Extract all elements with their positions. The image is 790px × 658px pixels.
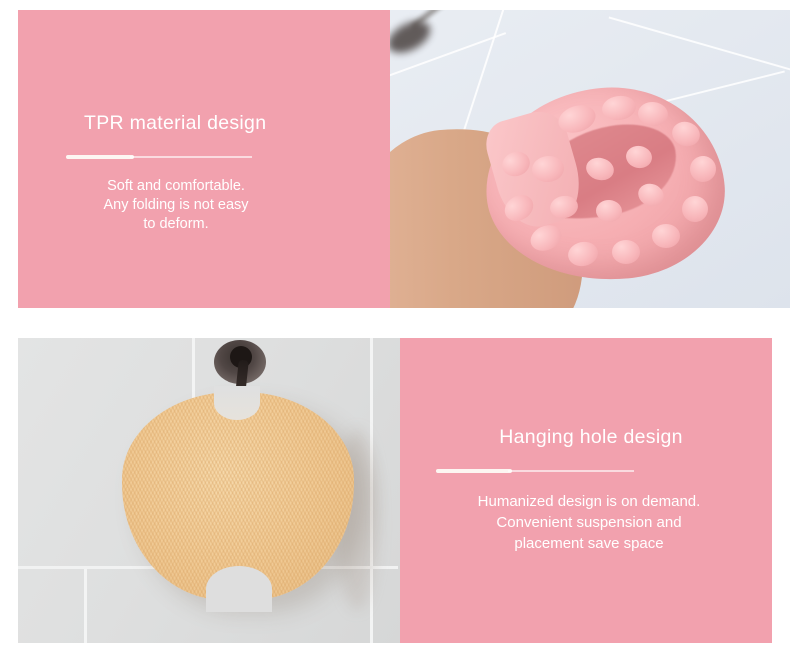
brush-nub (652, 224, 680, 248)
hanging-hole-body: Humanized design is on demand. Convenien… (400, 491, 772, 554)
product-feature-banner: TPR material design Soft and comfortable… (0, 0, 790, 658)
tpr-material-body: Soft and comfortable. Any folding is not… (18, 177, 390, 234)
tpr-material-text-panel: TPR material design Soft and comfortable… (18, 10, 390, 308)
body-line: Humanized design is on demand. (414, 491, 764, 512)
divider-faint-segment (130, 156, 252, 158)
tpr-material-photo (390, 10, 790, 308)
body-line: Convenient suspension and (414, 512, 764, 533)
body-line: placement save space (414, 533, 764, 554)
body-line: Any folding is not easy (46, 196, 306, 215)
body-line: Soft and comfortable. (46, 177, 306, 196)
title-divider (436, 467, 634, 475)
tile-grout-line (84, 566, 87, 643)
feature-section-hanging-hole: Hanging hole design Humanized design is … (18, 338, 772, 643)
divider-strong-segment (66, 155, 134, 159)
tpr-material-title: TPR material design (18, 112, 390, 135)
feature-section-tpr-material: TPR material design Soft and comfortable… (18, 10, 790, 308)
tile-grout-line (462, 10, 510, 135)
hanging-hole-photo (18, 338, 400, 643)
brush-top-notch (214, 386, 260, 420)
background-hook-blur (390, 15, 435, 60)
tile-grout-line (609, 16, 790, 73)
hanging-hole-title: Hanging hole design (400, 426, 772, 449)
hanging-hole-text-panel: Hanging hole design Humanized design is … (400, 338, 772, 643)
divider-faint-segment (508, 470, 634, 472)
divider-strong-segment (436, 469, 512, 473)
body-line: to deform. (46, 215, 306, 234)
brush-bottom-notch (206, 566, 272, 612)
title-divider (66, 153, 254, 161)
brush-nub (612, 240, 640, 264)
